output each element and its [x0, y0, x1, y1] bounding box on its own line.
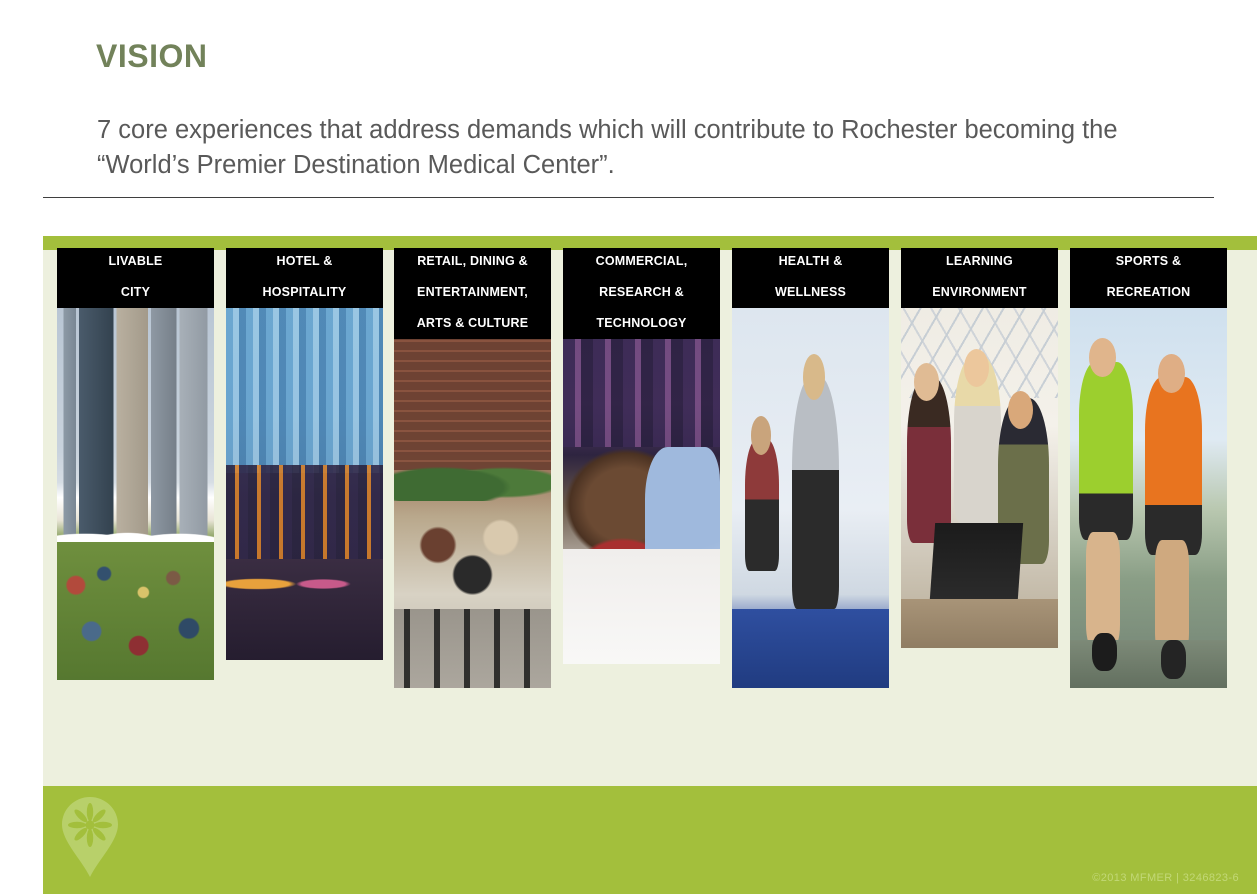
card-title-line: WELLNESS: [736, 285, 885, 301]
card-title-line: ENTERTAINMENT,: [398, 285, 547, 301]
card-title-line: HEALTH &: [736, 254, 885, 270]
card-hotel-hospitality[interactable]: HOTEL & HOSPITALITY: [226, 248, 383, 660]
card-title-line: RETAIL, DINING &: [398, 254, 547, 270]
card-title-retail-dining: RETAIL, DINING & ENTERTAINMENT, ARTS & C…: [394, 248, 551, 339]
card-title-line: CITY: [61, 285, 210, 301]
card-livable-city[interactable]: LIVABLE CITY: [57, 248, 214, 680]
card-health-wellness[interactable]: HEALTH & WELLNESS: [732, 248, 889, 688]
card-photo-retail-dining: [394, 339, 551, 689]
card-title-line: ENVIRONMENT: [905, 285, 1054, 301]
card-photo-commercial-research: [563, 339, 720, 665]
card-title-line: ARTS & CULTURE: [398, 316, 547, 332]
card-title-line: RECREATION: [1074, 285, 1223, 301]
card-title-health-wellness: HEALTH & WELLNESS: [732, 248, 889, 308]
card-learning-environment[interactable]: LEARNING ENVIRONMENT: [901, 248, 1058, 648]
page-title: VISION: [96, 38, 207, 75]
card-title-commercial-research: COMMERCIAL, RESEARCH & TECHNOLOGY: [563, 248, 720, 339]
card-title-line: TECHNOLOGY: [567, 316, 716, 332]
card-title-line: HOSPITALITY: [230, 285, 379, 301]
card-title-learning-environment: LEARNING ENVIRONMENT: [901, 248, 1058, 308]
card-title-livable-city: LIVABLE CITY: [57, 248, 214, 308]
vision-cards-stage: LIVABLE CITY HOTEL & HOSPITALITY: [43, 236, 1257, 894]
card-photo-sports-recreation: [1070, 308, 1227, 689]
card-title-line: RESEARCH &: [567, 285, 716, 301]
card-retail-dining-entertainment-arts-culture[interactable]: RETAIL, DINING & ENTERTAINMENT, ARTS & C…: [394, 248, 551, 688]
card-title-sports-recreation: SPORTS & RECREATION: [1070, 248, 1227, 308]
card-title-line: SPORTS &: [1074, 254, 1223, 270]
slide-subtitle: 7 core experiences that address demands …: [97, 113, 1217, 183]
card-title-line: HOTEL &: [230, 254, 379, 270]
card-photo-livable-city: [57, 308, 214, 681]
card-title-line: COMMERCIAL,: [567, 254, 716, 270]
card-photo-hotel-hospitality: [226, 308, 383, 661]
card-title-line: LIVABLE: [61, 254, 210, 270]
card-title-line: LEARNING: [905, 254, 1054, 270]
header-divider: [43, 197, 1214, 198]
footer-bar: ©2013 MFMER | 3246823-6: [43, 786, 1257, 894]
card-commercial-research-technology[interactable]: COMMERCIAL, RESEARCH & TECHNOLOGY: [563, 248, 720, 664]
card-photo-health-wellness: [732, 308, 889, 689]
card-photo-learning-environment: [901, 308, 1058, 649]
mayo-pin-logo-icon: [61, 796, 119, 878]
footer-credit: ©2013 MFMER | 3246823-6: [1092, 872, 1239, 884]
card-sports-recreation[interactable]: SPORTS & RECREATION: [1070, 248, 1227, 688]
card-title-hotel-hospitality: HOTEL & HOSPITALITY: [226, 248, 383, 308]
